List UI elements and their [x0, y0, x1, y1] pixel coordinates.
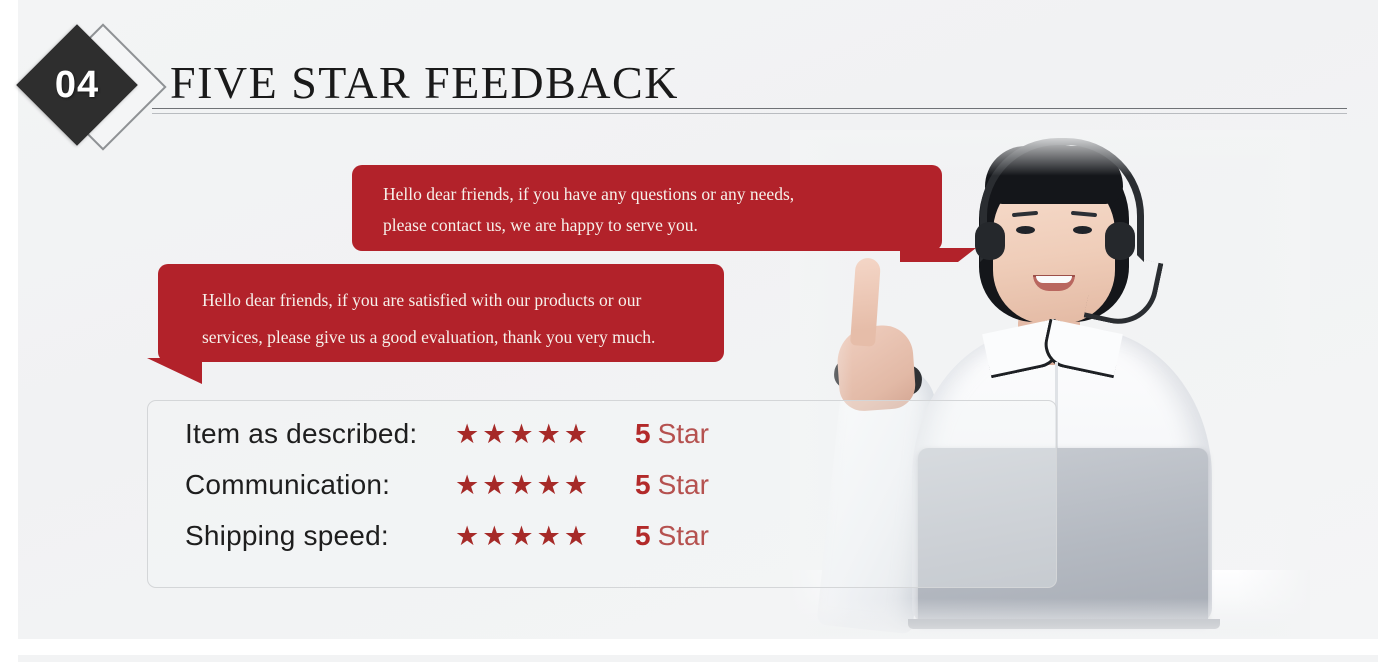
- rating-unit: Star: [658, 520, 709, 552]
- rating-row: Item as described: ★★★★★ 5 Star: [185, 418, 785, 469]
- headset-microphone-icon: [1084, 250, 1164, 331]
- star-rating-icon: ★★★★★: [455, 521, 635, 552]
- star-rating-icon: ★★★★★: [455, 419, 635, 450]
- evaluation-bubble-line-2: services, please give us a good evaluati…: [202, 319, 702, 356]
- contact-bubble: Hello dear friends, if you have any ques…: [352, 165, 942, 251]
- rating-score: 5: [635, 418, 651, 450]
- rating-label: Shipping speed:: [185, 520, 455, 552]
- contact-bubble-line-1: Hello dear friends, if you have any ques…: [383, 179, 920, 210]
- title-divider: [152, 108, 1347, 114]
- teeth: [1036, 276, 1072, 283]
- rating-row: Shipping speed: ★★★★★ 5 Star: [185, 520, 785, 571]
- feedback-slide: 04 FIVE STAR FEEDBACK Hello dear f: [0, 0, 1400, 662]
- bottom-strip: [18, 655, 1378, 662]
- rating-score: 5: [635, 469, 651, 501]
- page-title: FIVE STAR FEEDBACK: [170, 56, 679, 109]
- evaluation-bubble-line-1: Hello dear friends, if you are satisfied…: [202, 282, 702, 319]
- rating-row: Communication: ★★★★★ 5 Star: [185, 469, 785, 520]
- star-rating-icon: ★★★★★: [455, 470, 635, 501]
- rating-unit: Star: [658, 469, 709, 501]
- evaluation-bubble: Hello dear friends, if you are satisfied…: [158, 264, 724, 362]
- section-number: 04: [34, 42, 120, 128]
- rating-score: 5: [635, 520, 651, 552]
- contact-bubble-line-2: please contact us, we are happy to serve…: [383, 210, 920, 241]
- headset-earcup-left: [975, 222, 1005, 260]
- rating-label: Communication:: [185, 469, 455, 501]
- ratings-list: Item as described: ★★★★★ 5 Star Communic…: [185, 418, 785, 571]
- laptop-base: [908, 619, 1220, 629]
- rating-unit: Star: [658, 418, 709, 450]
- rating-label: Item as described:: [185, 418, 455, 450]
